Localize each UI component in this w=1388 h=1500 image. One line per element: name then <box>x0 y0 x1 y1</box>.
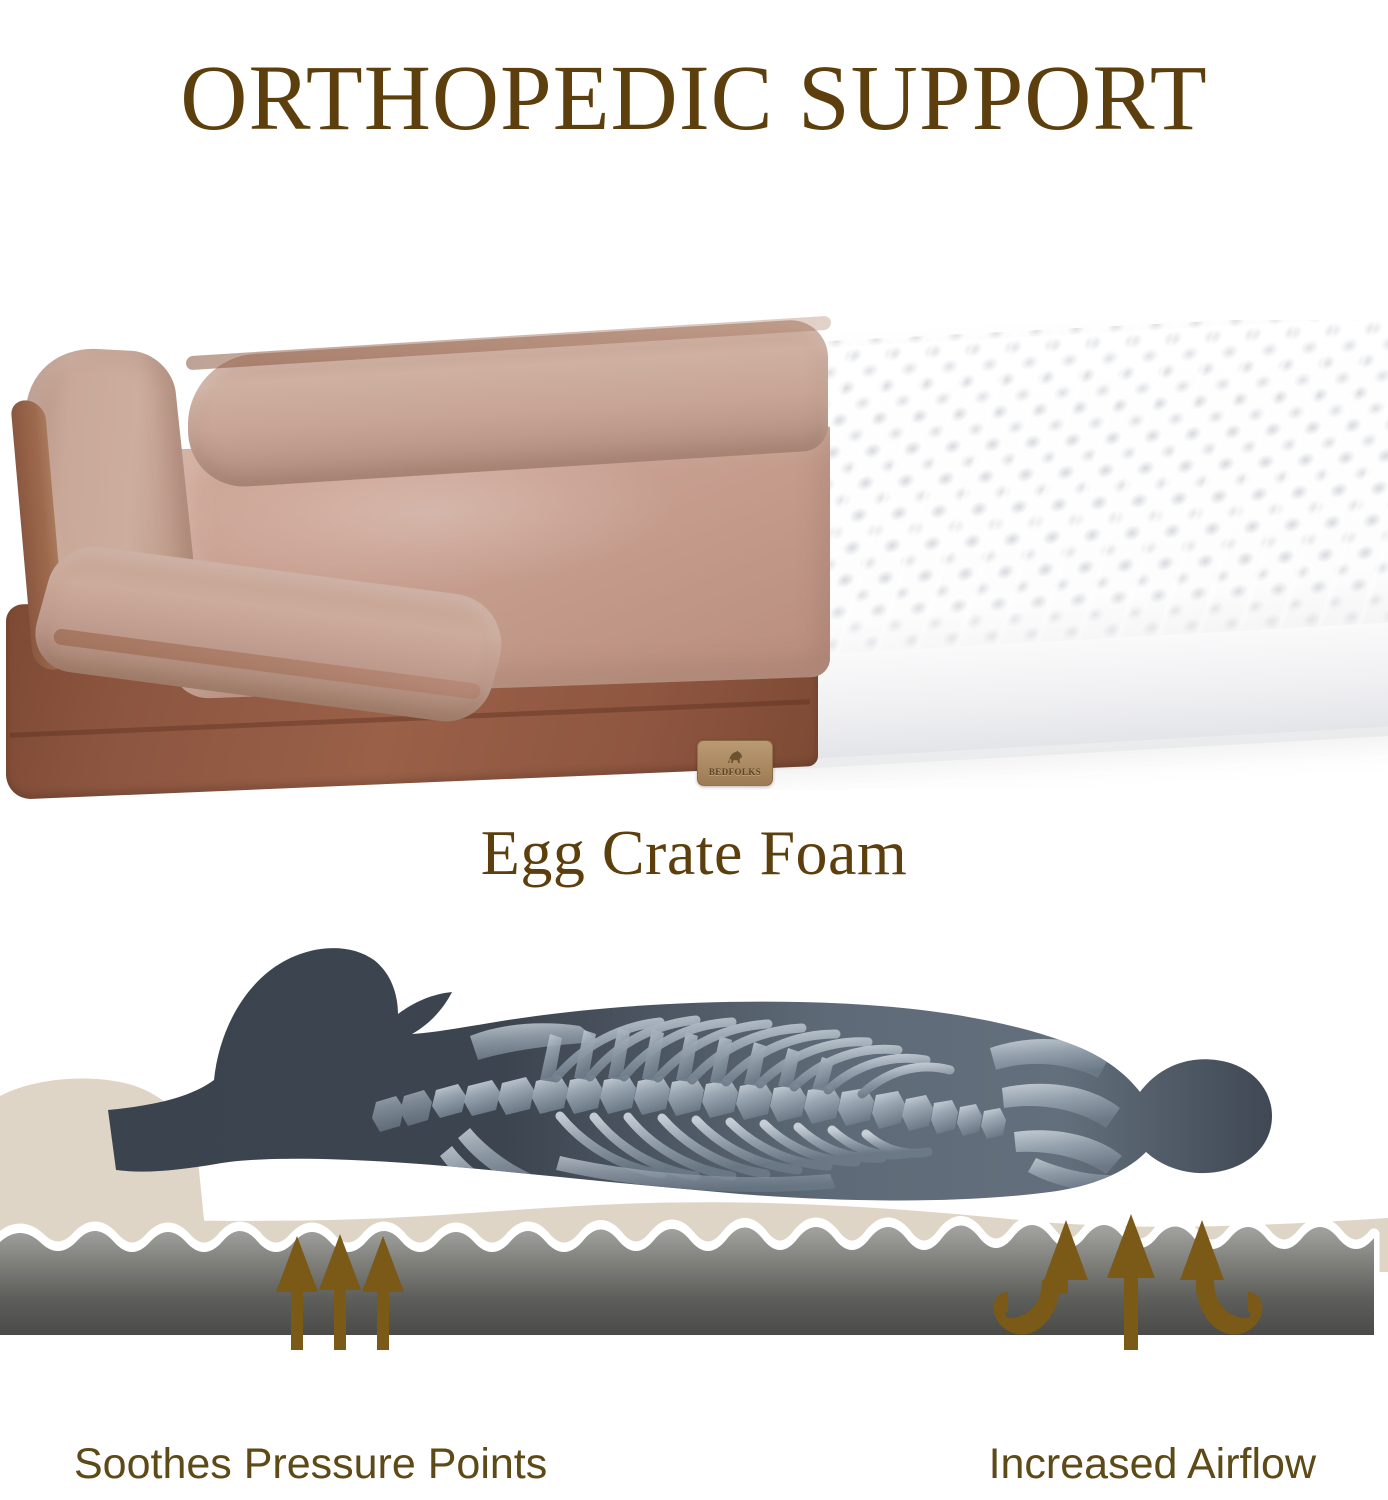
dog-bed <box>0 320 830 790</box>
infographic-page: ORTHOPEDIC SUPPORT <box>0 0 1388 1500</box>
page-title: ORTHOPEDIC SUPPORT <box>0 52 1388 147</box>
label-soothes-pressure-points: Soothes Pressure Points <box>74 1440 547 1489</box>
label-increased-airflow: Increased Airflow <box>989 1440 1316 1489</box>
product-photo-band <box>0 320 1388 810</box>
pressure-arrow-group <box>276 1234 404 1350</box>
feature-label-row: Soothes Pressure Points Increased Airflo… <box>0 1440 1388 1500</box>
cross-section-svg <box>0 920 1388 1350</box>
dog-silhouette-icon <box>725 749 745 766</box>
brand-tag: BEDFOLKS <box>697 740 773 786</box>
foam-caption: Egg Crate Foam <box>0 816 1388 890</box>
cross-section-diagram <box>0 920 1388 1350</box>
brand-tag-text: BEDFOLKS <box>709 767 761 777</box>
